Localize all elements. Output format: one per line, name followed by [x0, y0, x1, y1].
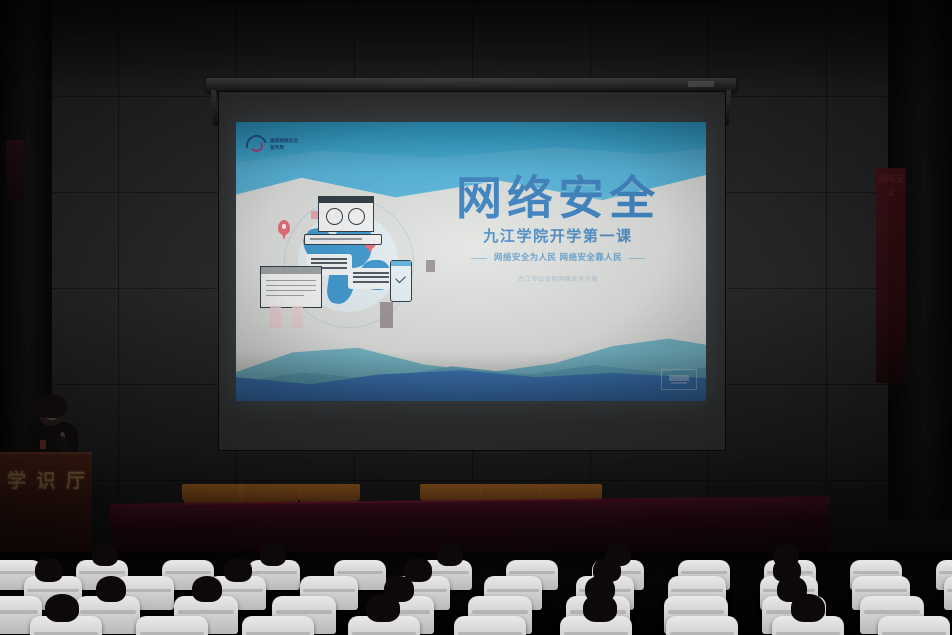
keyboard-icon [304, 234, 382, 245]
document-icon [260, 266, 322, 308]
auditorium-photo: 网络安全 国家网络安全 [0, 0, 952, 635]
stage-chair [420, 484, 482, 500]
smartphone-icon [390, 260, 412, 302]
audience-member [35, 558, 63, 582]
audience-seat [944, 576, 952, 610]
stage-chair [298, 484, 360, 500]
podium-char-1: 学 [7, 470, 26, 492]
right-wall-banner: 网络安全 [876, 168, 906, 383]
audience-member [45, 594, 79, 622]
slogan-rule-left [471, 258, 487, 259]
stage-chair [182, 484, 244, 500]
chat-bubble-icon [348, 268, 394, 289]
audience-seat [242, 616, 314, 635]
podium-char-2: 识 [36, 470, 55, 492]
podium: 学 识 厅 [0, 452, 92, 564]
screen-valance [206, 78, 736, 92]
logo-line-2: 宣传周 [270, 146, 298, 151]
audience-seat [666, 616, 738, 635]
audience-member [96, 576, 126, 602]
audience-member [92, 544, 118, 566]
audience-seat [878, 616, 950, 635]
slogan-rule-right [629, 258, 645, 259]
speaker-badge [40, 440, 46, 449]
podium-char-3: 厅 [66, 470, 85, 492]
cybersecurity-week-logo: 国家网络安全 宣传周 [246, 133, 316, 157]
monitor-icon [318, 196, 374, 232]
audience-member [224, 558, 252, 582]
slide-slogan: 网络安全为人民 网络安全靠人民 [494, 252, 622, 264]
slide-text-block: 网络安全 九江学院开学第一课 网络安全为人民 网络安全靠人民 九江市公安局网络安… [424, 174, 692, 284]
audience-seat [454, 616, 526, 635]
stage-chair [540, 484, 602, 500]
slide-illustration [260, 194, 440, 344]
audience-member [583, 594, 617, 622]
logo-line-1: 国家网络安全 [270, 139, 298, 144]
location-pin-icon [278, 220, 290, 235]
podium-characters: 学 识 厅 [2, 470, 90, 492]
audience-area [0, 552, 952, 635]
tag-shape [270, 306, 281, 328]
audience-seat [136, 616, 208, 635]
slide-title: 网络安全 [424, 174, 692, 222]
slide-subtitle: 九江学院开学第一课 [424, 227, 692, 245]
chip-shape [380, 302, 393, 328]
audience-member [192, 576, 222, 602]
right-wall-banner-text: 网络安全 [876, 168, 906, 200]
projector-screen: 国家网络安全 宣传周 [206, 78, 736, 460]
slide-organization: 九江市公安局网络安全分局 [424, 275, 692, 284]
badge-rule [671, 382, 687, 384]
swoosh-icon [246, 135, 267, 156]
audience-member [260, 544, 286, 566]
badge-mark [669, 375, 689, 381]
tag-shape [292, 306, 303, 328]
left-wall-banner [6, 140, 24, 200]
audience-member [791, 594, 825, 622]
audience-member [366, 594, 400, 622]
slide-slogan-row: 网络安全为人民 网络安全靠人民 [424, 252, 692, 264]
screen-knob [688, 81, 714, 87]
presentation-slide: 国家网络安全 宣传周 [236, 122, 706, 401]
audience-member [437, 544, 463, 566]
slide-corner-badge [661, 369, 697, 390]
stage-chair [480, 484, 542, 500]
speaker-hair [35, 394, 67, 418]
stage-chair [238, 484, 300, 500]
